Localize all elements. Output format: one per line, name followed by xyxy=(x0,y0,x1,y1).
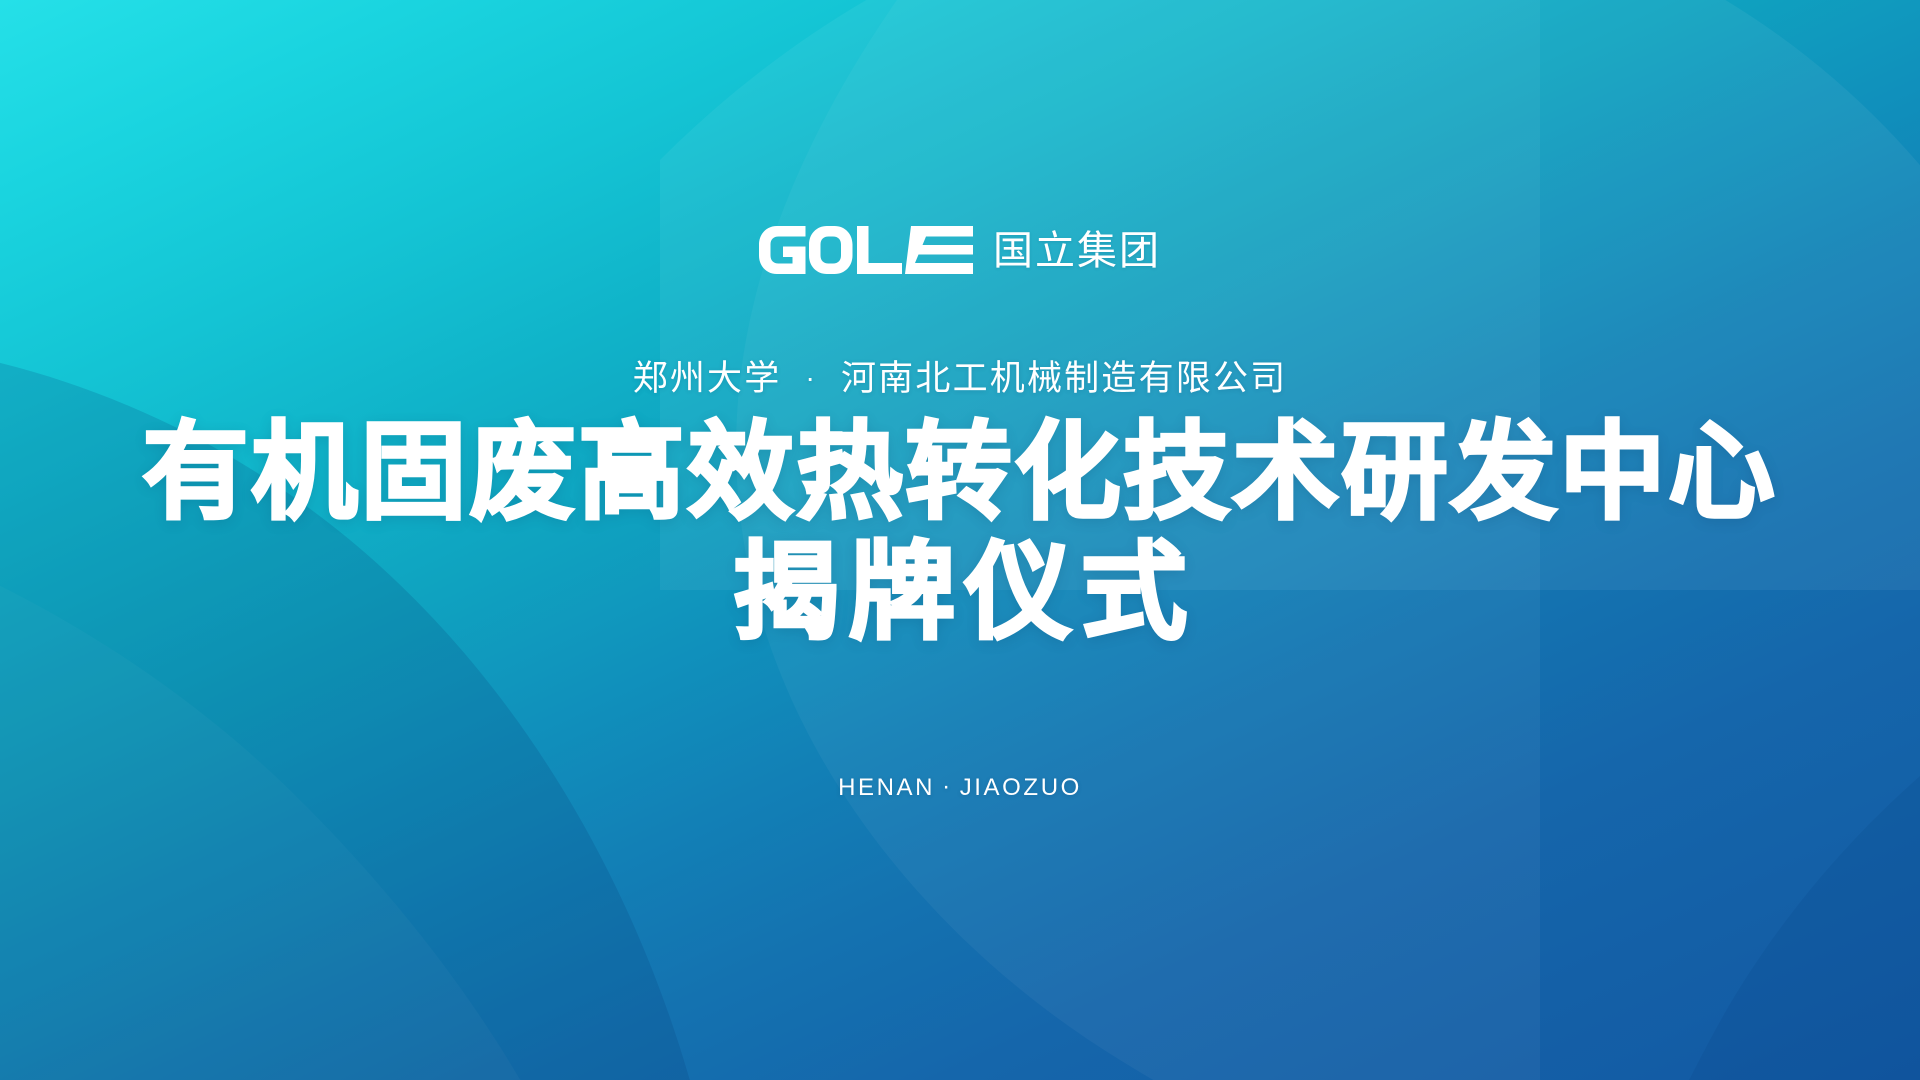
brand-logo-lockup: 国立集团 xyxy=(759,225,1161,277)
location-separator: · xyxy=(935,773,960,801)
page-title: 有机固废高效热转化技术研发中心 揭牌仪式 xyxy=(143,420,1778,646)
partner-organizations: 郑州大学·河南北工机械制造有限公司 xyxy=(633,361,1288,396)
gole-logo-mark-icon xyxy=(759,224,973,279)
banner-content: 国立集团 郑州大学·河南北工机械制造有限公司 有机固废高效热转化技术研发中心 揭… xyxy=(0,0,1920,1080)
brand-name-cn: 国立集团 xyxy=(993,231,1161,271)
partner-right: 河南北工机械制造有限公司 xyxy=(841,359,1287,398)
partner-left: 郑州大学 xyxy=(633,359,782,398)
location-footer: HENAN·JIAOZUO xyxy=(838,773,1082,802)
location-province: HENAN xyxy=(838,774,935,801)
location-city: JIAOZUO xyxy=(960,774,1082,801)
headline-line-2: 揭牌仪式 xyxy=(143,540,1778,646)
headline-line-1: 有机固废高效热转化技术研发中心 xyxy=(143,420,1778,526)
event-banner-slide: 国立集团 郑州大学·河南北工机械制造有限公司 有机固废高效热转化技术研发中心 揭… xyxy=(0,0,1920,1080)
partner-separator: · xyxy=(781,364,841,392)
